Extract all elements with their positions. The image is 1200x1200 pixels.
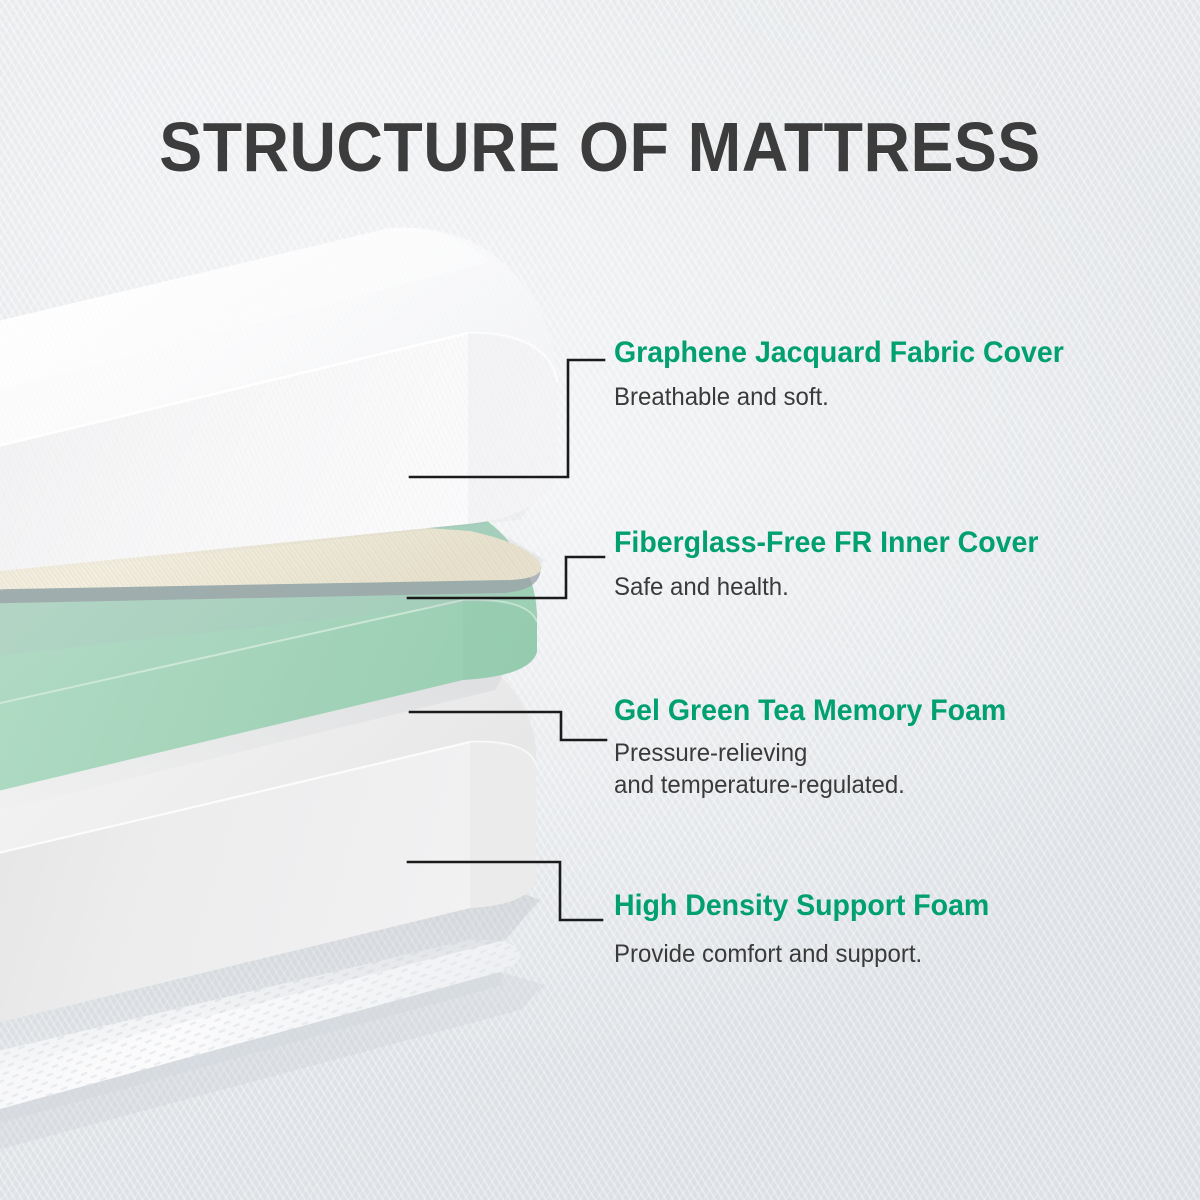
callout-title-gel-green-tea-memory-foam: Gel Green Tea Memory Foam: [614, 693, 1006, 729]
callout-title-fiberglass-free-fr-inner-cover: Fiberglass-Free FR Inner Cover: [614, 525, 1038, 561]
page-title: STRUCTURE OF MATTRESS: [48, 108, 1152, 186]
callout-description-fiberglass-free-fr-inner-cover: Safe and health.: [614, 571, 1043, 603]
callout-high-density-support-foam: High Density Support Foam Provide comfor…: [614, 888, 1009, 970]
callout-description-line-2: and temperature-regulated.: [614, 769, 1010, 801]
callout-graphene-jacquard-fabric-cover: Graphene Jacquard Fabric Cover Breathabl…: [614, 335, 1088, 413]
callout-description-graphene-jacquard-fabric-cover: Breathable and soft.: [614, 381, 1069, 413]
callout-description-line-1: Breathable and soft.: [614, 383, 829, 411]
callout-description-line-1: Pressure-relieving: [614, 739, 807, 767]
callout-fiberglass-free-fr-inner-cover: Fiberglass-Free FR Inner Cover Safe and …: [614, 525, 1061, 603]
mattress-structure-infographic: STRUCTURE OF MATTRESS Graphene Jacquard …: [0, 0, 1200, 1200]
callout-title-high-density-support-foam: High Density Support Foam: [614, 888, 989, 924]
callout-title-graphene-jacquard-fabric-cover: Graphene Jacquard Fabric Cover: [614, 335, 1064, 371]
callout-description-line-1: Provide comfort and support.: [614, 940, 922, 968]
callout-description-high-density-support-foam: Provide comfort and support.: [614, 938, 993, 970]
callout-gel-green-tea-memory-foam: Gel Green Tea Memory Foam Pressure-relie…: [614, 693, 1027, 801]
callout-description-line-1: Safe and health.: [614, 573, 789, 601]
callout-description-gel-green-tea-memory-foam: Pressure-relieving and temperature-regul…: [614, 737, 1010, 801]
